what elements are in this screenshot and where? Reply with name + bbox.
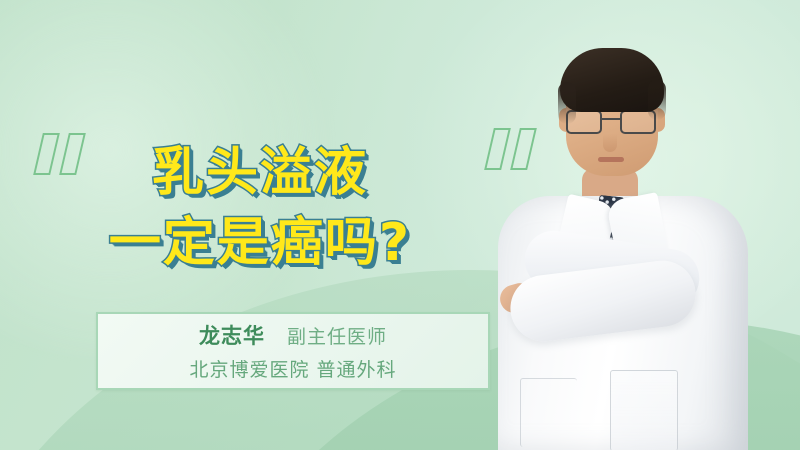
title-line-1: 乳头溢液 (0, 140, 520, 206)
eyeglasses-icon (562, 110, 662, 134)
doctor-portrait-image (470, 0, 800, 450)
portrait-nose (603, 134, 617, 152)
portrait-hair-side-left (558, 82, 576, 124)
doctor-professional-title: 副主任医师 (287, 322, 387, 349)
doctor-affiliation-row: 北京博爱医院 普通外科 (189, 355, 396, 382)
portrait-coat-pocket-right (610, 370, 678, 450)
doctor-identity-row: 龙志华 副主任医师 (199, 320, 387, 350)
poster-title: 乳头溢液 一定是癌吗? (0, 140, 520, 276)
video-thumbnail-poster: 乳头溢液 一定是癌吗? 龙志华 副主任医师 北京博爱医院 普通外科 (0, 0, 800, 450)
portrait-coat-pocket-left (520, 378, 577, 447)
doctor-affiliation: 北京博爱医院 普通外科 (189, 355, 396, 382)
portrait-mouth (598, 157, 624, 162)
doctor-info-card: 龙志华 副主任医师 北京博爱医院 普通外科 (96, 312, 490, 390)
doctor-name: 龙志华 (199, 320, 265, 350)
eyeglass-bridge (602, 118, 620, 120)
title-line-2: 一定是癌吗? (0, 210, 520, 276)
portrait-hair-side-right (648, 80, 666, 120)
